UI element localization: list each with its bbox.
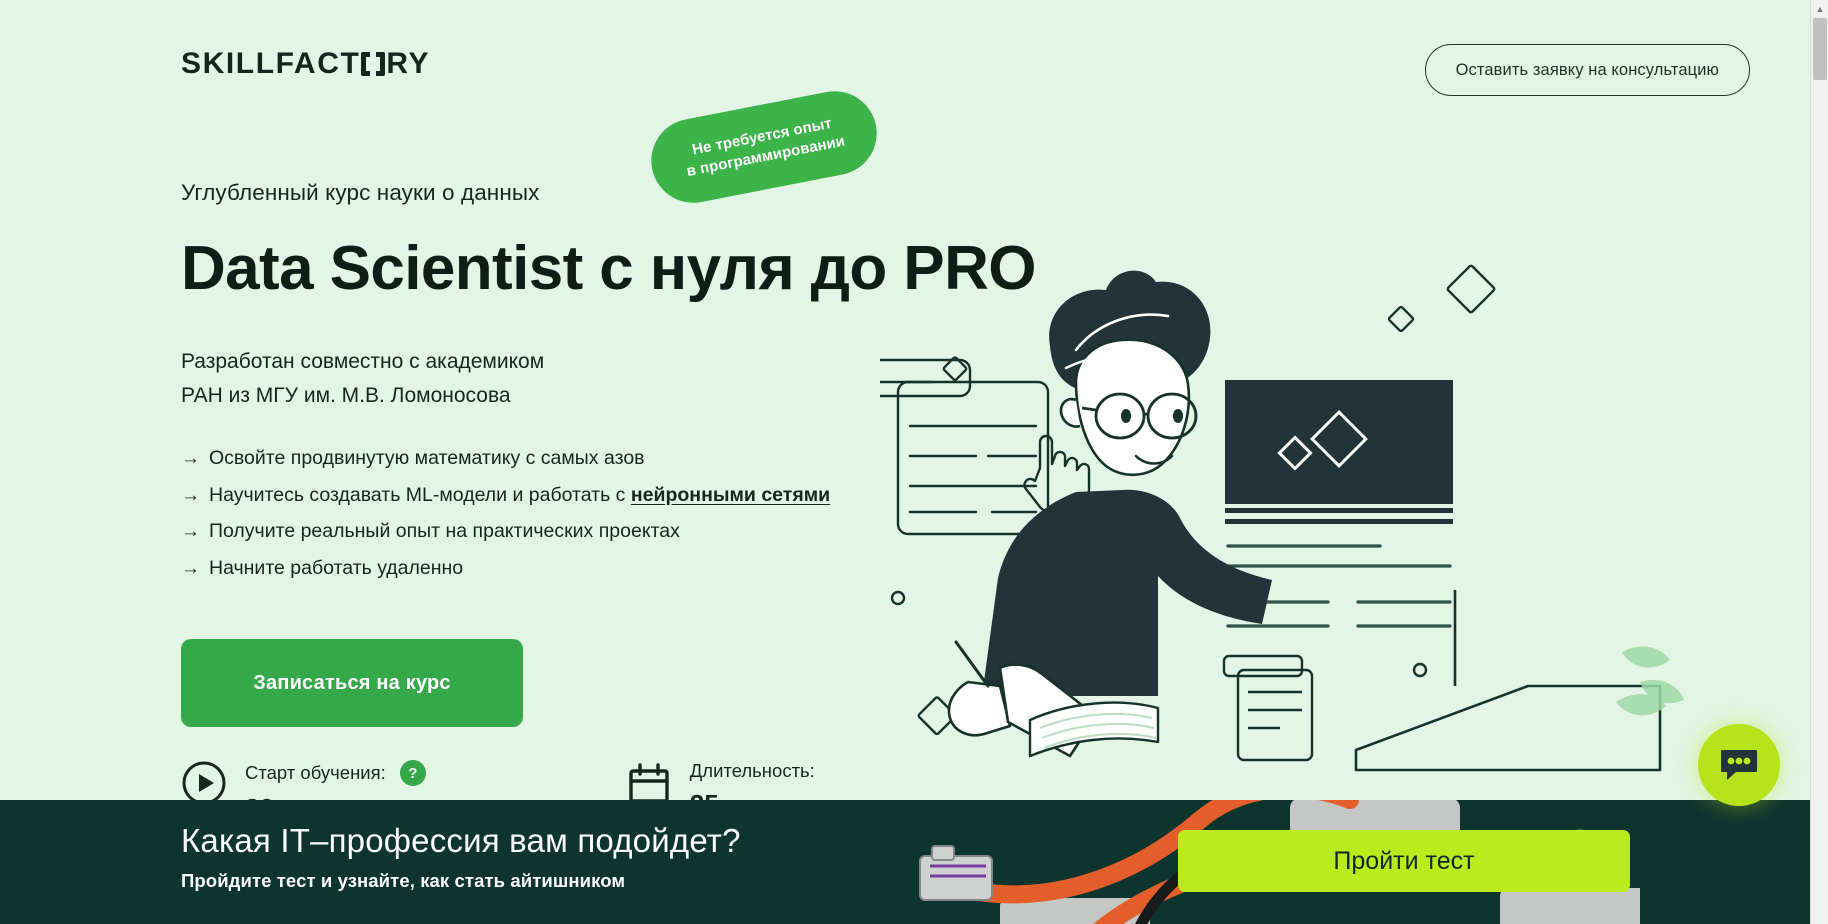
fact-label: Старт обучения: xyxy=(245,762,386,784)
logo-text-before: SKILLFACT xyxy=(181,47,360,81)
arrow-icon: → xyxy=(181,486,200,505)
fact-label: Длительность: xyxy=(690,760,815,782)
page-title: Data Scientist с нуля до PRO xyxy=(181,236,1041,301)
fact-duration-label-row: Длительность: xyxy=(690,760,815,782)
skillfactory-logo[interactable]: SKILLFACT RY xyxy=(181,47,430,81)
consultation-request-label: Оставить заявку на консультацию xyxy=(1456,61,1719,80)
hero-benefits-list: → Освойте продвинутую математику с самых… xyxy=(181,449,1041,595)
banner-subtitle: Пройдите тест и узнайте, как стать айтиш… xyxy=(181,870,741,892)
fact-start-date-label-row: Старт обучения: ? xyxy=(245,760,426,786)
benefit-text-link[interactable]: нейронными сетями xyxy=(631,484,830,506)
chat-widget-button[interactable] xyxy=(1698,724,1780,806)
benefit-text: Освойте продвинутую математику с самых а… xyxy=(209,449,645,469)
banner-text-block: Какая IT–профессия вам подойдет? Пройдит… xyxy=(181,822,741,892)
take-test-button[interactable]: Пройти тест xyxy=(1178,830,1630,892)
take-test-label: Пройти тест xyxy=(1333,847,1474,876)
enroll-button[interactable]: Записаться на курс xyxy=(181,639,523,727)
arrow-icon: → xyxy=(181,522,200,541)
benefit-text: Получите реальный опыт на практических п… xyxy=(209,522,680,542)
hero-subtitle-line-1: Разработан совместно с академиком xyxy=(181,350,544,373)
notched-o-glyph-icon xyxy=(361,52,385,76)
page-header: SKILLFACT RY Оставить заявку на консульт… xyxy=(0,0,1810,130)
benefit-text-plain: Научитесь создавать ML-модели и работать… xyxy=(209,484,631,506)
list-item: → Научитесь создавать ML-модели и работа… xyxy=(181,486,1041,523)
bottom-promo-banner: Какая IT–профессия вам подойдет? Пройдит… xyxy=(0,800,1810,924)
page-scrollbar[interactable]: ▲ xyxy=(1810,0,1828,924)
hero-subtitle-line-2: РАН из МГУ им. М.В. Ломоносова xyxy=(181,384,511,407)
hero-subtitle: Разработан совместно с академиком РАН из… xyxy=(181,345,1041,413)
no-experience-badge-text: Не требуется опыт в программировании xyxy=(662,108,866,186)
hero-eyebrow: Углубленный курс науки о данных xyxy=(181,180,1041,206)
chat-bubble-icon xyxy=(1717,743,1761,787)
banner-title: Какая IT–профессия вам подойдет? xyxy=(181,822,741,860)
logo-text-after: RY xyxy=(386,47,430,81)
monitor-panel xyxy=(1225,380,1453,524)
arrow-icon: → xyxy=(181,449,200,468)
scroll-up-arrow-icon[interactable]: ▲ xyxy=(1811,0,1828,18)
help-icon[interactable]: ? xyxy=(400,760,426,786)
benefit-text: Начните работать удаленно xyxy=(209,559,463,579)
scrollbar-thumb[interactable] xyxy=(1813,18,1827,80)
arrow-icon: → xyxy=(181,559,200,578)
hero-section: Углубленный курс науки о данных Data Sci… xyxy=(181,180,1041,727)
consultation-request-button[interactable]: Оставить заявку на консультацию xyxy=(1425,44,1750,96)
list-item: → Получите реальный опыт на практических… xyxy=(181,522,1041,559)
enroll-button-label: Записаться на курс xyxy=(253,672,451,695)
list-item: → Начните работать удаленно xyxy=(181,559,1041,596)
landing-page: SKILLFACT RY Оставить заявку на консульт… xyxy=(0,0,1828,924)
list-item: → Освойте продвинутую математику с самых… xyxy=(181,449,1041,486)
benefit-text: Научитесь создавать ML-модели и работать… xyxy=(209,486,830,506)
